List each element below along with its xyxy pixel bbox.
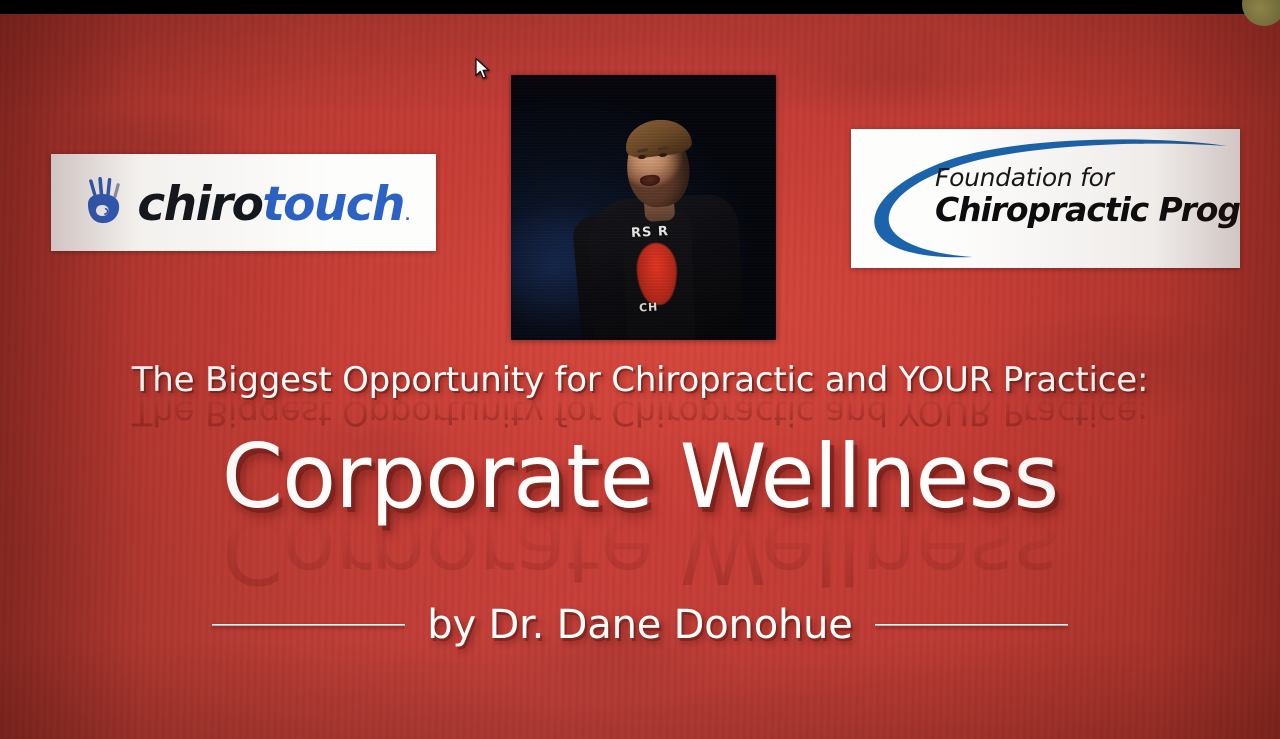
foundation-logo-line1: Foundation for [935,165,1240,190]
presentation-viewer: chirotouch. Foundation for Chiropractic … [0,0,1280,739]
top-letterbox-bar [0,0,1280,14]
slide-byline-group: by Dr. Dane Donohue [0,604,1280,646]
foundation-logo-line2: Chiropractic Progress [935,193,1240,226]
chirotouch-registered-mark: . [405,208,409,224]
chirotouch-word-chiro: chiro [137,177,262,232]
speaker-tshirt-text-bottom: CH [639,301,659,315]
logo-foundation-chiropractic-progress: Foundation for Chiropractic Progress [851,129,1240,268]
hand-print-icon [78,177,132,233]
chirotouch-wordmark: chirotouch. [137,181,408,228]
logo-chirotouch: chirotouch. [51,154,436,251]
slide-main-title-reflection: Corporate Wellness [0,505,1280,596]
byline-rule-left [212,624,405,626]
slide-title-group: Corporate Wellness Corporate Wellness [0,432,1280,595]
speaker-photo: RS R CH [511,75,776,340]
slide-main-title: Corporate Wellness [222,432,1058,523]
speaker-tshirt-text-top: RS R [631,224,670,241]
chirotouch-word-touch: touch [262,177,404,232]
slide-subtitle-reflection: The Biggest Opportunity for Chiropractic… [0,394,1280,431]
byline-rule-right [875,624,1068,626]
slide-canvas[interactable]: chirotouch. Foundation for Chiropractic … [0,14,1280,739]
slide-subtitle-group: The Biggest Opportunity for Chiropractic… [0,362,1280,430]
slide-byline: by Dr. Dane Donohue [427,604,852,646]
slide-subtitle: The Biggest Opportunity for Chiropractic… [132,362,1149,399]
